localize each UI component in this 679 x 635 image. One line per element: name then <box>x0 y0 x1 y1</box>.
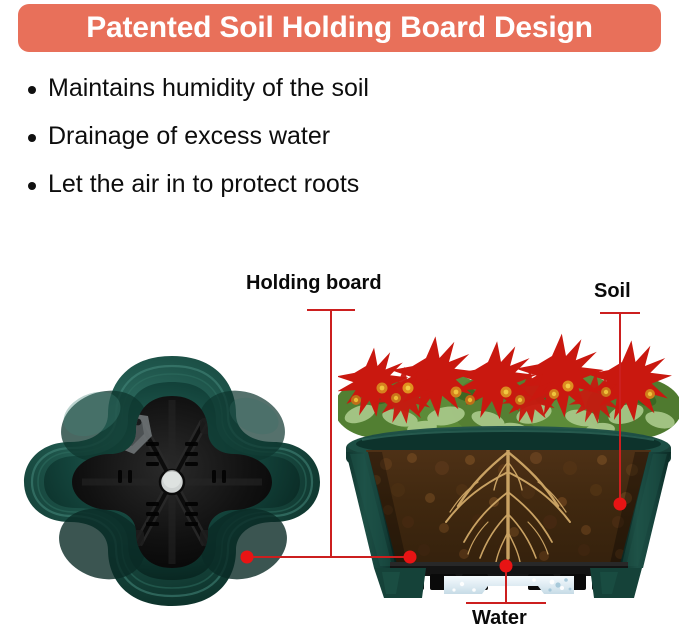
feature-text: Maintains humidity of the soil <box>48 72 369 104</box>
holding-board-marker-left <box>241 551 254 564</box>
flower-cluster <box>338 334 679 439</box>
soil-leader-stem <box>619 312 621 504</box>
water-marker <box>500 560 513 573</box>
page-title: Patented Soil Holding Board Design <box>86 13 593 43</box>
planter-top-graphic <box>22 348 322 612</box>
product-infographic: Patented Soil Holding Board Design Maint… <box>0 0 679 635</box>
list-item: Let the air in to protect roots <box>28 168 588 200</box>
callout-label-holding-board: Holding board <box>246 272 382 295</box>
holding-board-leader-arm-left <box>247 556 331 558</box>
bullet-icon <box>28 86 36 94</box>
feature-list: Maintains humidity of the soil Drainage … <box>28 72 588 216</box>
callout-label-soil: Soil <box>594 280 631 303</box>
water-leader-bar <box>466 602 546 604</box>
bullet-icon <box>28 134 36 142</box>
list-item: Maintains humidity of the soil <box>28 72 588 104</box>
callout-label-water: Water <box>472 607 527 630</box>
bullet-icon <box>28 182 36 190</box>
pot-foot-left <box>374 568 426 598</box>
holding-board-marker-right <box>404 551 417 564</box>
quatrefoil-planter-top-view <box>22 348 322 612</box>
feature-text: Let the air in to protect roots <box>48 168 359 200</box>
holding-board-leader-stem <box>330 309 332 557</box>
holding-board-leader-arm-right <box>330 556 411 558</box>
feature-text: Drainage of excess water <box>48 120 330 152</box>
soil-marker <box>614 498 627 511</box>
list-item: Drainage of excess water <box>28 120 588 152</box>
header-banner: Patented Soil Holding Board Design <box>18 4 661 52</box>
